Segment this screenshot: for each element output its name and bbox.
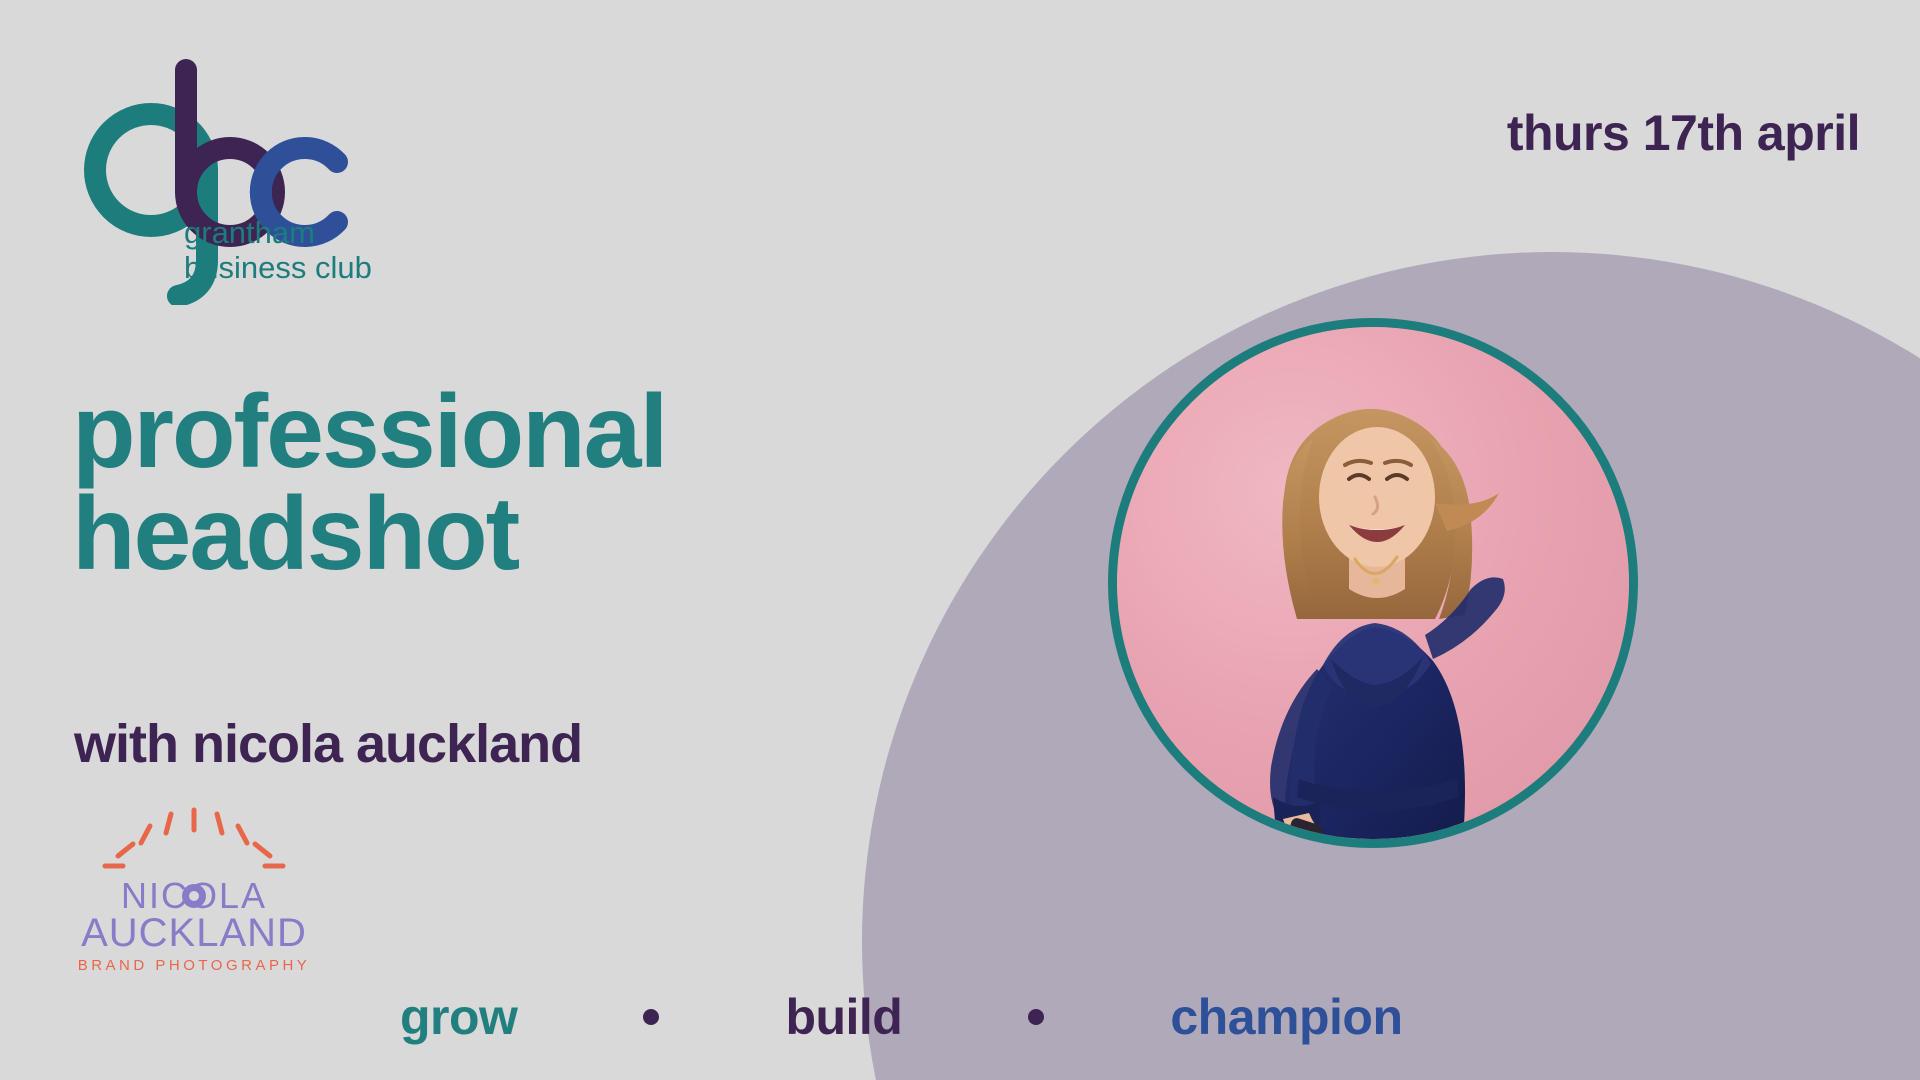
photographer-name-line2: AUCKLAND — [81, 911, 307, 955]
portrait-illustration — [1117, 327, 1629, 839]
nicola-auckland-portrait — [1108, 318, 1638, 848]
photographer-tagline: BRAND PHOTOGRAPHY — [78, 957, 310, 974]
logo-wordmark-line2: business club — [184, 250, 372, 285]
necklace-pendant — [1372, 577, 1380, 585]
headline-line-1: professional — [72, 374, 666, 490]
tagline-word-grow: grow — [400, 988, 517, 1046]
nicola-auckland-brand-photography-logo: NICOLA AUCKLAND BRAND PHOTOGRAPHY — [78, 798, 310, 978]
tagline-word-champion: champion — [1170, 988, 1402, 1046]
tagline-separator-dot — [643, 1009, 659, 1025]
tagline-separator-dot — [1028, 1009, 1044, 1025]
face — [1319, 427, 1435, 567]
tagline-word-build: build — [785, 988, 902, 1046]
event-date: thurs 17th april — [1507, 104, 1860, 162]
headline-line-2: headshot — [72, 484, 666, 586]
poster-canvas: grantham business club thurs 17th april … — [0, 0, 1920, 1080]
sunburst-icon — [105, 810, 283, 866]
logo-wordmark-line1: grantham — [184, 215, 315, 250]
brand-tagline: grow build champion — [400, 988, 1403, 1046]
grantham-business-club-logo: grantham business club — [78, 55, 408, 305]
subtitle: with nicola auckland — [74, 713, 582, 775]
flower-o-icon — [182, 884, 206, 908]
page-title: professional headshot — [72, 382, 666, 586]
